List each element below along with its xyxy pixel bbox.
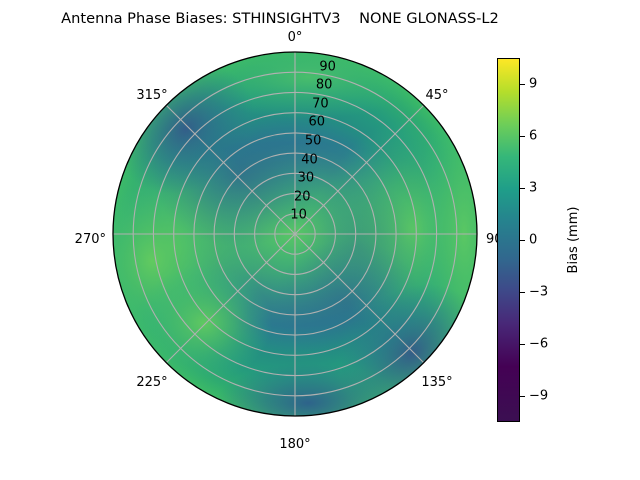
- radial-tick-label-20: 20: [294, 189, 311, 204]
- radial-tick-label-60: 60: [309, 115, 326, 130]
- angle-tick-225: 225°: [136, 375, 167, 390]
- colorbar-tick-mark: [520, 396, 525, 397]
- angle-tick-180: 180°: [279, 437, 310, 452]
- colorbar-tick-mark: [520, 240, 525, 241]
- colorbar-tick-mark: [520, 84, 525, 85]
- polar-heatmap: [112, 51, 478, 417]
- page-title: Antenna Phase Biases: STHINSIGHTV3 NONE …: [0, 10, 560, 27]
- colorbar-tick-label: 0: [529, 233, 537, 248]
- angle-tick-270: 270°: [75, 232, 106, 247]
- radial-tick-label-80: 80: [316, 78, 333, 93]
- colorbar-tick-mark: [520, 344, 525, 345]
- radial-tick-label-10: 10: [290, 208, 307, 223]
- angle-tick-135: 135°: [421, 375, 452, 390]
- colorbar-tick-mark: [520, 136, 525, 137]
- colorbar-gradient: [497, 58, 520, 422]
- colorbar-tick-label: −6: [529, 337, 548, 352]
- colorbar[interactable]: 9630−3−6−9: [497, 58, 520, 422]
- colorbar-tick-label: 3: [529, 181, 537, 196]
- radial-tick-label-50: 50: [305, 133, 322, 148]
- polar-plot-axes[interactable]: [112, 51, 478, 417]
- angle-tick-315: 315°: [136, 88, 167, 103]
- angle-tick-45: 45°: [425, 88, 448, 103]
- angular-gridlines: [113, 52, 477, 416]
- colorbar-tick-mark: [520, 188, 525, 189]
- radial-tick-label-90: 90: [319, 59, 336, 74]
- radial-tick-label-30: 30: [298, 171, 315, 186]
- radial-tick-label-70: 70: [312, 96, 329, 111]
- radial-tick-label-40: 40: [301, 152, 318, 167]
- colorbar-tick-label: 6: [529, 129, 537, 144]
- colorbar-tick-mark: [520, 292, 525, 293]
- colorbar-tick-label: −9: [529, 389, 548, 404]
- angle-tick-0: 0°: [288, 30, 303, 45]
- figure-canvas: Antenna Phase Biases: STHINSIGHTV3 NONE …: [0, 0, 640, 480]
- colorbar-tick-label: −3: [529, 285, 548, 300]
- colorbar-label: Bias (mm): [566, 207, 581, 274]
- colorbar-tick-label: 9: [529, 77, 537, 92]
